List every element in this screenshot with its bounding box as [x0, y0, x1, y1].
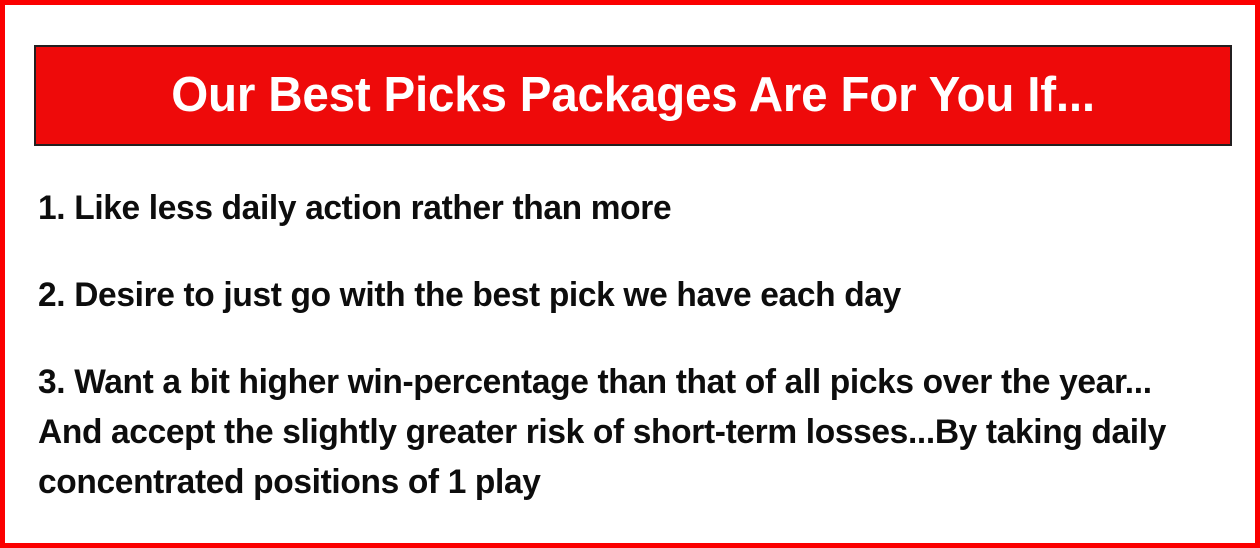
headline-banner: Our Best Picks Packages Are For You If..…	[34, 45, 1232, 146]
headline-title: Our Best Picks Packages Are For You If..…	[171, 71, 1095, 120]
benefit-item-2: 2. Desire to just go with the best pick …	[38, 270, 1212, 320]
benefit-item-3: 3. Want a bit higher win-percentage than…	[38, 357, 1212, 507]
benefit-item-1: 1. Like less daily action rather than mo…	[38, 183, 1212, 233]
promo-card: Our Best Picks Packages Are For You If..…	[0, 0, 1260, 548]
benefits-list: 1. Like less daily action rather than mo…	[38, 183, 1230, 507]
